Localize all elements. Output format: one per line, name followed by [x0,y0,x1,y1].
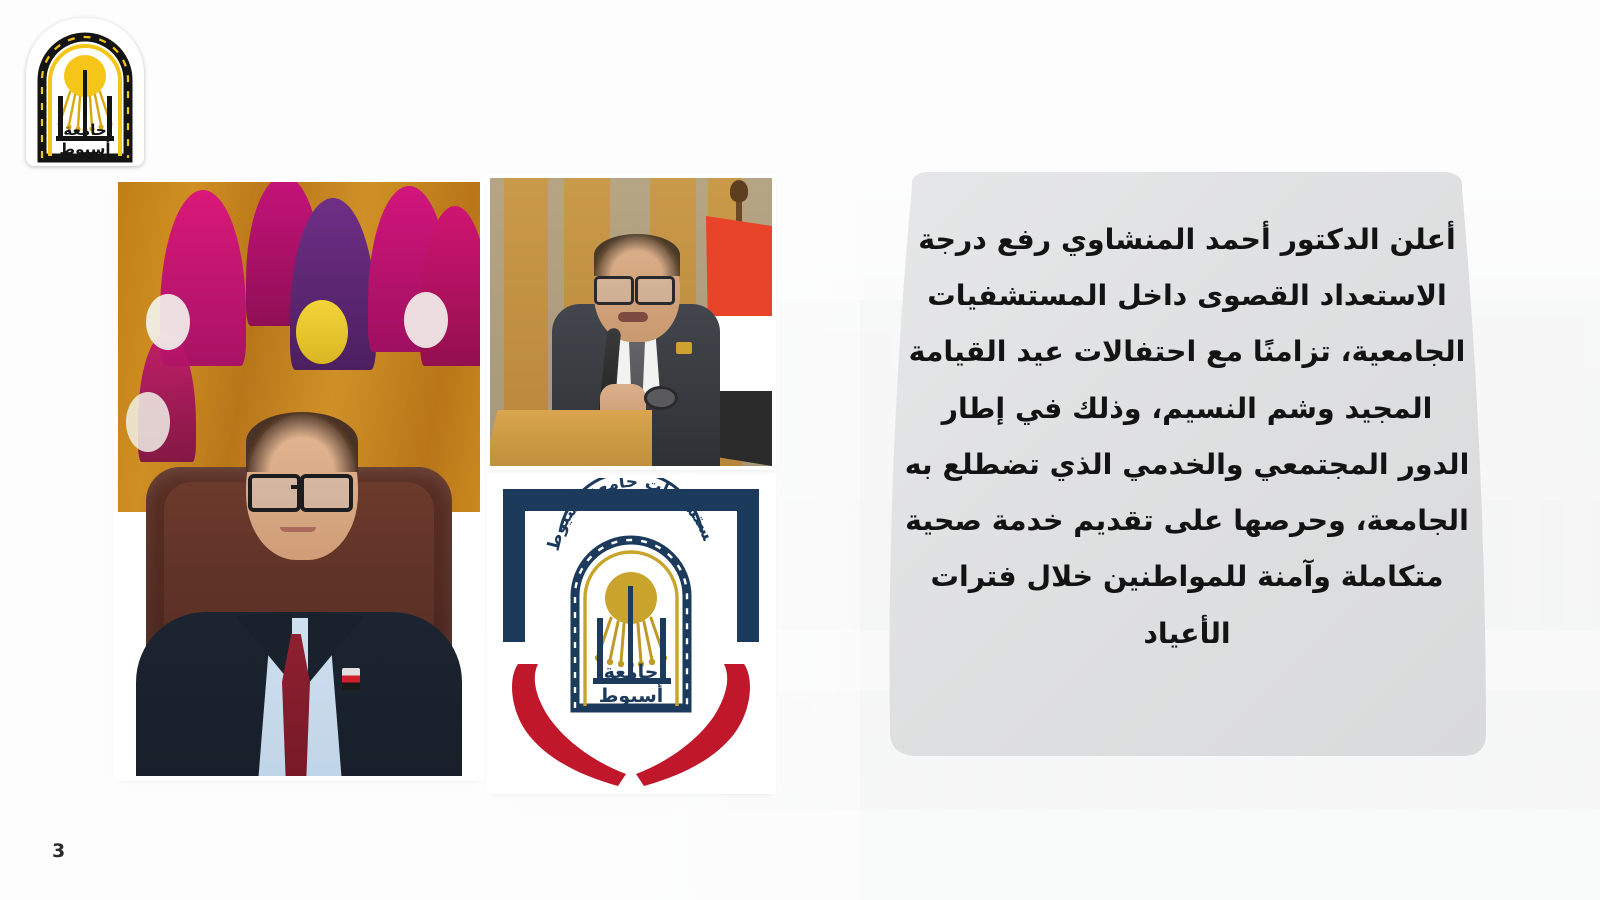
portrait-mouth [280,527,316,532]
announcement-text-panel: أعلن الدكتور أحمد المنشاوي رفع درجة الاس… [874,168,1500,790]
podium-lapel-pin [676,342,692,354]
podium-mouth [618,312,648,322]
podium-wristwatch [644,386,678,410]
portrait-flower-yellow [296,300,348,364]
podium-flagpole-finial [730,180,748,202]
announcement-body-text: أعلن الدكتور أحمد المنشاوي رفع درجة الاس… [902,212,1472,662]
portrait-hair [246,412,358,472]
portrait-eyeglass-bridge [291,485,303,489]
portrait-eyeglass-right [300,474,353,512]
crest-artwork: جامعة أسيوط [26,18,144,166]
portrait-flag-pin [342,668,360,690]
podium-hair [594,234,680,276]
podium-content [490,178,772,466]
podium-eyeglass-right [635,276,675,305]
podium-eyeglass-left [594,276,634,305]
portrait-content [118,182,480,776]
portrait-eyeglass-left [248,474,301,512]
hospitals-logo-artwork: مستشفيات جامعة أسيوط جامعة [490,478,772,790]
hospitals-logo-inner-line1: جامعة [604,661,659,683]
assiut-university-crest-icon: جامعة أسيوط [26,18,144,166]
rector-podium-photo [490,178,772,466]
portrait-flower-white [146,294,190,350]
hospitals-logo-inner-line2: أسيوط [599,683,664,707]
page-number: 3 [52,840,65,862]
crest-line2: أسيوط [60,139,111,158]
podium-lectern [490,410,652,466]
assiut-university-hospitals-logo: مستشفيات جامعة أسيوط جامعة [490,478,772,790]
rector-portrait-photo [118,182,480,776]
portrait-flower-white [126,392,170,452]
crest-line1: جامعة [63,121,106,139]
portrait-flower-white [404,292,448,348]
slide-canvas: جامعة أسيوط [0,0,1600,900]
